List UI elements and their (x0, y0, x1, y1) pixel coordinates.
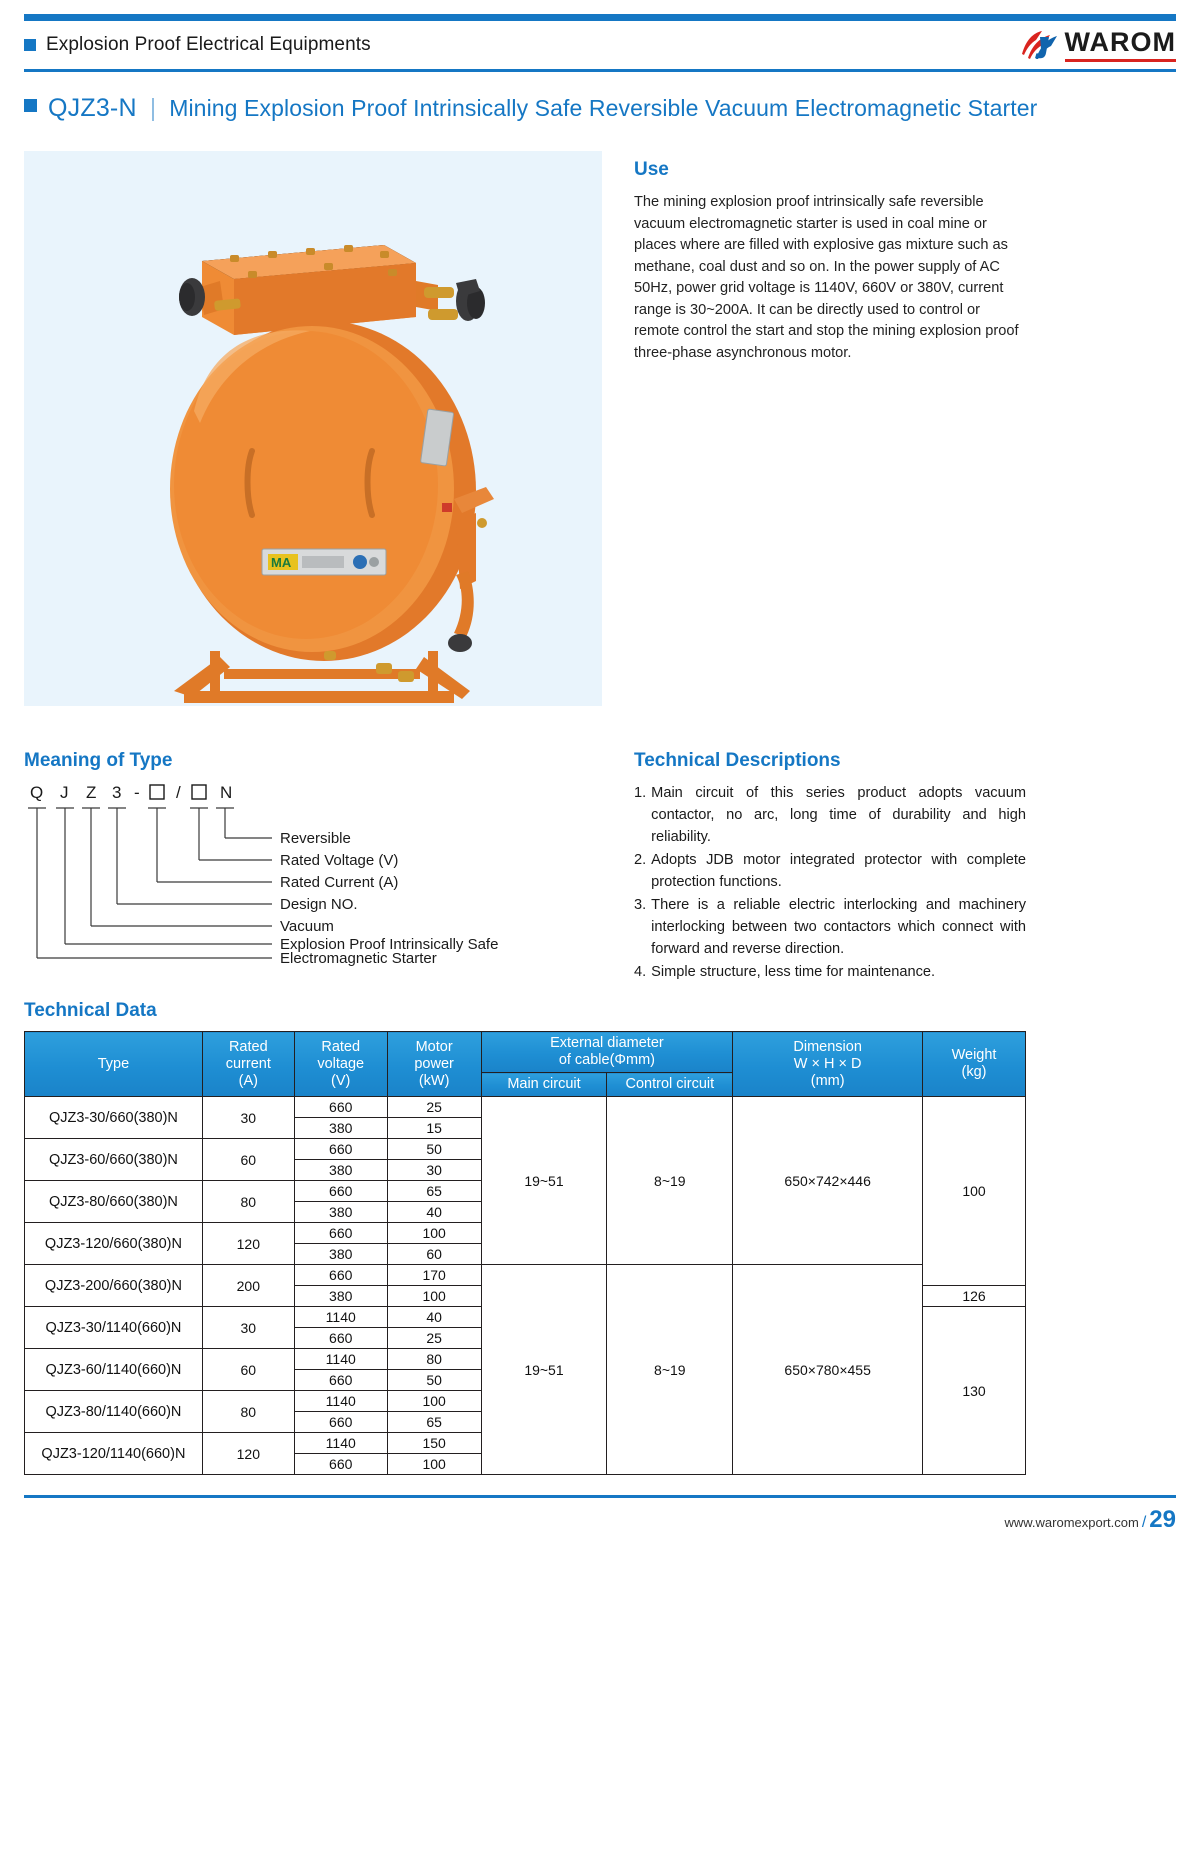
col-rated-current-l3: (A) (205, 1073, 292, 1090)
page-header: Explosion Proof Electrical Equipments WA… (24, 21, 1176, 69)
type-label-rated-current: Rated Current (A) (280, 874, 398, 891)
cell-type: QJZ3-60/1140(660)N (25, 1349, 203, 1391)
cell-voltage: 660 (294, 1139, 387, 1160)
code-char-z: Z (86, 783, 96, 802)
cell-type: QJZ3-200/660(380)N (25, 1265, 203, 1307)
col-dimension-l3: (mm) (735, 1073, 920, 1090)
col-rated-voltage-l2: voltage (297, 1056, 385, 1073)
col-rated-current-l2: current (205, 1056, 292, 1073)
title-separator: | (148, 94, 159, 123)
cell-type: QJZ3-60/660(380)N (25, 1139, 203, 1181)
cell-current: 120 (202, 1433, 294, 1475)
product-name: Mining Explosion Proof Intrinsically Saf… (169, 95, 1037, 122)
col-dimension-l1: Dimension (735, 1039, 920, 1056)
cell-voltage: 660 (294, 1454, 387, 1475)
datasheet-page: Explosion Proof Electrical Equipments WA… (0, 14, 1200, 1855)
code-char-n: N (220, 783, 232, 802)
type-label-design-no: Design NO. (280, 896, 358, 913)
product-code: QJZ3-N (48, 94, 137, 123)
cell-type: QJZ3-80/660(380)N (25, 1181, 203, 1223)
header-category-label: Explosion Proof Electrical Equipments (46, 34, 371, 56)
page-number: 29 (1149, 1506, 1176, 1534)
table-row: QJZ3-200/660(380)N 200 660 170 19~51 8~1… (25, 1265, 1026, 1286)
col-rated-voltage-l3: (V) (297, 1073, 385, 1090)
technical-descriptions-list: 1. Main circuit of this series product a… (634, 782, 1026, 983)
col-rated-voltage: Rated voltage (V) (294, 1032, 387, 1097)
cell-weight-126: 126 (923, 1286, 1026, 1307)
cell-power: 80 (387, 1349, 481, 1370)
cell-voltage: 1140 (294, 1349, 387, 1370)
cell-type: QJZ3-120/1140(660)N (25, 1433, 203, 1475)
product-photo: MA (24, 151, 602, 706)
type-label-rated-voltage: Rated Voltage (V) (280, 852, 398, 869)
cell-power: 150 (387, 1433, 481, 1454)
col-motor-power-l3: (kW) (390, 1073, 479, 1090)
col-rated-voltage-l1: Rated (297, 1039, 385, 1056)
cell-voltage: 660 (294, 1412, 387, 1433)
cell-voltage: 380 (294, 1286, 387, 1307)
cell-voltage: 660 (294, 1265, 387, 1286)
col-cable-group-l1: External diameter (484, 1035, 731, 1052)
list-item: 1. Main circuit of this series product a… (634, 782, 1026, 848)
col-rated-current-l1: Rated (205, 1039, 292, 1056)
meaning-of-type-heading: Meaning of Type (24, 750, 602, 772)
type-label-electromagnetic-starter: Electromagnetic Starter (280, 950, 437, 967)
cell-current: 80 (202, 1391, 294, 1433)
middle-section: Meaning of Type Q J Z 3 - / N (24, 750, 1176, 984)
cell-current: 60 (202, 1349, 294, 1391)
cell-dimension-group-a: 650×742×446 (733, 1097, 923, 1265)
type-code-diagram-icon: Q J Z 3 - / N (24, 782, 584, 982)
col-type: Type (25, 1032, 203, 1097)
cell-main-circuit-group-a: 19~51 (481, 1097, 607, 1265)
list-item-text: Adopts JDB motor integrated protector wi… (651, 849, 1026, 893)
col-motor-power-l1: Motor (390, 1039, 479, 1056)
col-dimension: Dimension W × H × D (mm) (733, 1032, 923, 1097)
warom-logo: WAROM (1020, 29, 1176, 62)
cell-power: 100 (387, 1286, 481, 1307)
col-weight-l2: (kg) (925, 1064, 1023, 1081)
cell-power: 65 (387, 1181, 481, 1202)
col-motor-power: Motor power (kW) (387, 1032, 481, 1097)
type-label-reversible: Reversible (280, 830, 351, 847)
footer-slash: / (1142, 1514, 1146, 1532)
col-main-circuit: Main circuit (481, 1073, 607, 1097)
cell-current: 200 (202, 1265, 294, 1307)
cell-type: QJZ3-30/1140(660)N (25, 1307, 203, 1349)
list-item-text: Simple structure, less time for maintena… (651, 961, 1026, 983)
cell-voltage: 1140 (294, 1391, 387, 1412)
warom-logo-mark-icon (1020, 30, 1058, 60)
cell-power: 40 (387, 1307, 481, 1328)
meaning-of-type-section: Meaning of Type Q J Z 3 - / N (24, 750, 602, 984)
header-rule (24, 69, 1176, 72)
cell-voltage: 1140 (294, 1433, 387, 1454)
cell-voltage: 660 (294, 1328, 387, 1349)
technical-descriptions-heading: Technical Descriptions (634, 750, 1026, 772)
col-weight: Weight (kg) (923, 1032, 1026, 1097)
cell-power: 100 (387, 1223, 481, 1244)
cell-current: 30 (202, 1097, 294, 1139)
code-box-current (150, 785, 164, 799)
cell-power: 25 (387, 1328, 481, 1349)
warom-underline (1065, 59, 1176, 62)
list-item-number: 1. (634, 782, 646, 848)
code-char-slash: / (176, 783, 181, 802)
col-cable-group-l2: of cable(Φmm) (484, 1052, 731, 1069)
cell-weight-group-a: 100 (923, 1097, 1026, 1286)
cell-current: 60 (202, 1139, 294, 1181)
cell-dimension-group-b: 650×780×455 (733, 1265, 923, 1475)
cell-power: 15 (387, 1118, 481, 1139)
cell-voltage: 380 (294, 1244, 387, 1265)
product-title: QJZ3-N | Mining Explosion Proof Intrinsi… (24, 94, 1176, 123)
list-item: 3. There is a reliable electric interloc… (634, 894, 1026, 960)
cell-control-circuit-group-a: 8~19 (607, 1097, 733, 1265)
code-char-3: 3 (112, 783, 121, 802)
list-item-number: 3. (634, 894, 646, 960)
list-item: 2. Adopts JDB motor integrated protector… (634, 849, 1026, 893)
cell-power: 40 (387, 1202, 481, 1223)
cell-current: 120 (202, 1223, 294, 1265)
cell-weight-group-b: 130 (923, 1307, 1026, 1475)
code-char-q: Q (30, 783, 43, 802)
type-code-diagram: Q J Z 3 - / N (24, 782, 584, 982)
cell-power: 25 (387, 1097, 481, 1118)
col-control-circuit: Control circuit (607, 1073, 733, 1097)
technical-data-table: Type Rated current (A) Rated voltage (V)… (24, 1031, 1026, 1475)
cell-type: QJZ3-80/1140(660)N (25, 1391, 203, 1433)
cell-voltage: 660 (294, 1097, 387, 1118)
cell-power: 60 (387, 1244, 481, 1265)
cell-voltage: 660 (294, 1370, 387, 1391)
square-bullet-icon (24, 39, 36, 51)
cell-main-circuit-group-b: 19~51 (481, 1265, 607, 1475)
cell-voltage: 380 (294, 1118, 387, 1139)
cell-voltage: 660 (294, 1181, 387, 1202)
col-weight-l1: Weight (925, 1047, 1023, 1064)
use-heading: Use (634, 159, 1026, 181)
cell-power: 65 (387, 1412, 481, 1433)
list-item-number: 2. (634, 849, 646, 893)
cell-voltage: 1140 (294, 1307, 387, 1328)
cell-current: 80 (202, 1181, 294, 1223)
use-text: The mining explosion proof intrinsically… (634, 192, 1026, 364)
cell-current: 30 (202, 1307, 294, 1349)
col-cable-group: External diameter of cable(Φmm) (481, 1032, 733, 1073)
cell-type: QJZ3-30/660(380)N (25, 1097, 203, 1139)
hero-section: MA (24, 151, 1176, 706)
list-item: 4. Simple structure, less time for maint… (634, 961, 1026, 983)
col-motor-power-l2: power (390, 1056, 479, 1073)
code-char-j: J (60, 783, 69, 802)
cell-voltage: 660 (294, 1223, 387, 1244)
cell-control-circuit-group-b: 8~19 (607, 1265, 733, 1475)
code-box-voltage (192, 785, 206, 799)
cell-voltage: 380 (294, 1202, 387, 1223)
table-header: Type Rated current (A) Rated voltage (V)… (25, 1032, 1026, 1097)
technical-data-heading: Technical Data (24, 1000, 1176, 1022)
table-row: QJZ3-30/660(380)N 30 660 25 19~51 8~19 6… (25, 1097, 1026, 1118)
cell-power: 100 (387, 1391, 481, 1412)
svg-text:MA: MA (271, 555, 292, 570)
product-illustration-icon: MA (24, 151, 602, 706)
technical-descriptions-section: Technical Descriptions 1. Main circuit o… (634, 750, 1026, 984)
use-section: Use The mining explosion proof intrinsic… (634, 151, 1026, 706)
col-dimension-l2: W × H × D (735, 1056, 920, 1073)
page-footer: www.waromexport.com / 29 (24, 1498, 1176, 1534)
list-item-text: There is a reliable electric interlockin… (651, 894, 1026, 960)
col-rated-current: Rated current (A) (202, 1032, 294, 1097)
cell-voltage: 380 (294, 1160, 387, 1181)
cell-power: 170 (387, 1265, 481, 1286)
square-bullet-icon (24, 99, 37, 112)
warom-brand-text: WAROM (1065, 29, 1176, 56)
header-category: Explosion Proof Electrical Equipments (24, 34, 371, 56)
list-item-number: 4. (634, 961, 646, 983)
cell-power: 30 (387, 1160, 481, 1181)
cell-power: 100 (387, 1454, 481, 1475)
warom-wordmark: WAROM (1065, 29, 1176, 62)
top-rule (24, 14, 1176, 21)
cell-power: 50 (387, 1370, 481, 1391)
footer-url[interactable]: www.waromexport.com (1004, 1515, 1138, 1530)
list-item-text: Main circuit of this series product adop… (651, 782, 1026, 848)
type-label-vacuum: Vacuum (280, 918, 334, 935)
cell-type: QJZ3-120/660(380)N (25, 1223, 203, 1265)
code-char-dash: - (134, 783, 140, 802)
table-body: QJZ3-30/660(380)N 30 660 25 19~51 8~19 6… (25, 1097, 1026, 1475)
cell-power: 50 (387, 1139, 481, 1160)
